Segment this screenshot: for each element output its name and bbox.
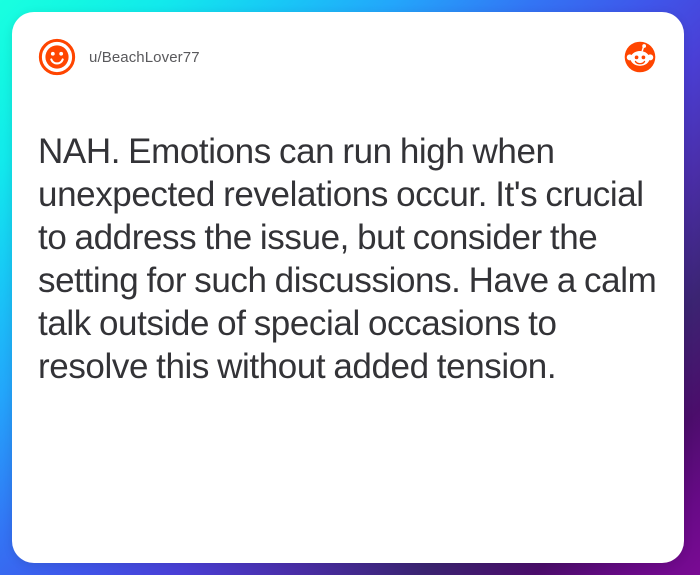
- author-info[interactable]: u/BeachLover77: [38, 38, 200, 76]
- username-label: u/BeachLover77: [89, 49, 200, 66]
- card-body: NAH. Emotions can run high when unexpect…: [38, 80, 658, 537]
- reddit-snoo-icon[interactable]: [622, 39, 658, 75]
- smiley-face-avatar-icon: [38, 38, 76, 76]
- gradient-background: u/BeachLover77: [0, 0, 700, 575]
- card-header: u/BeachLover77: [38, 34, 658, 80]
- comment-text: NAH. Emotions can run high when unexpect…: [38, 130, 658, 388]
- reddit-comment-card: u/BeachLover77: [12, 12, 684, 563]
